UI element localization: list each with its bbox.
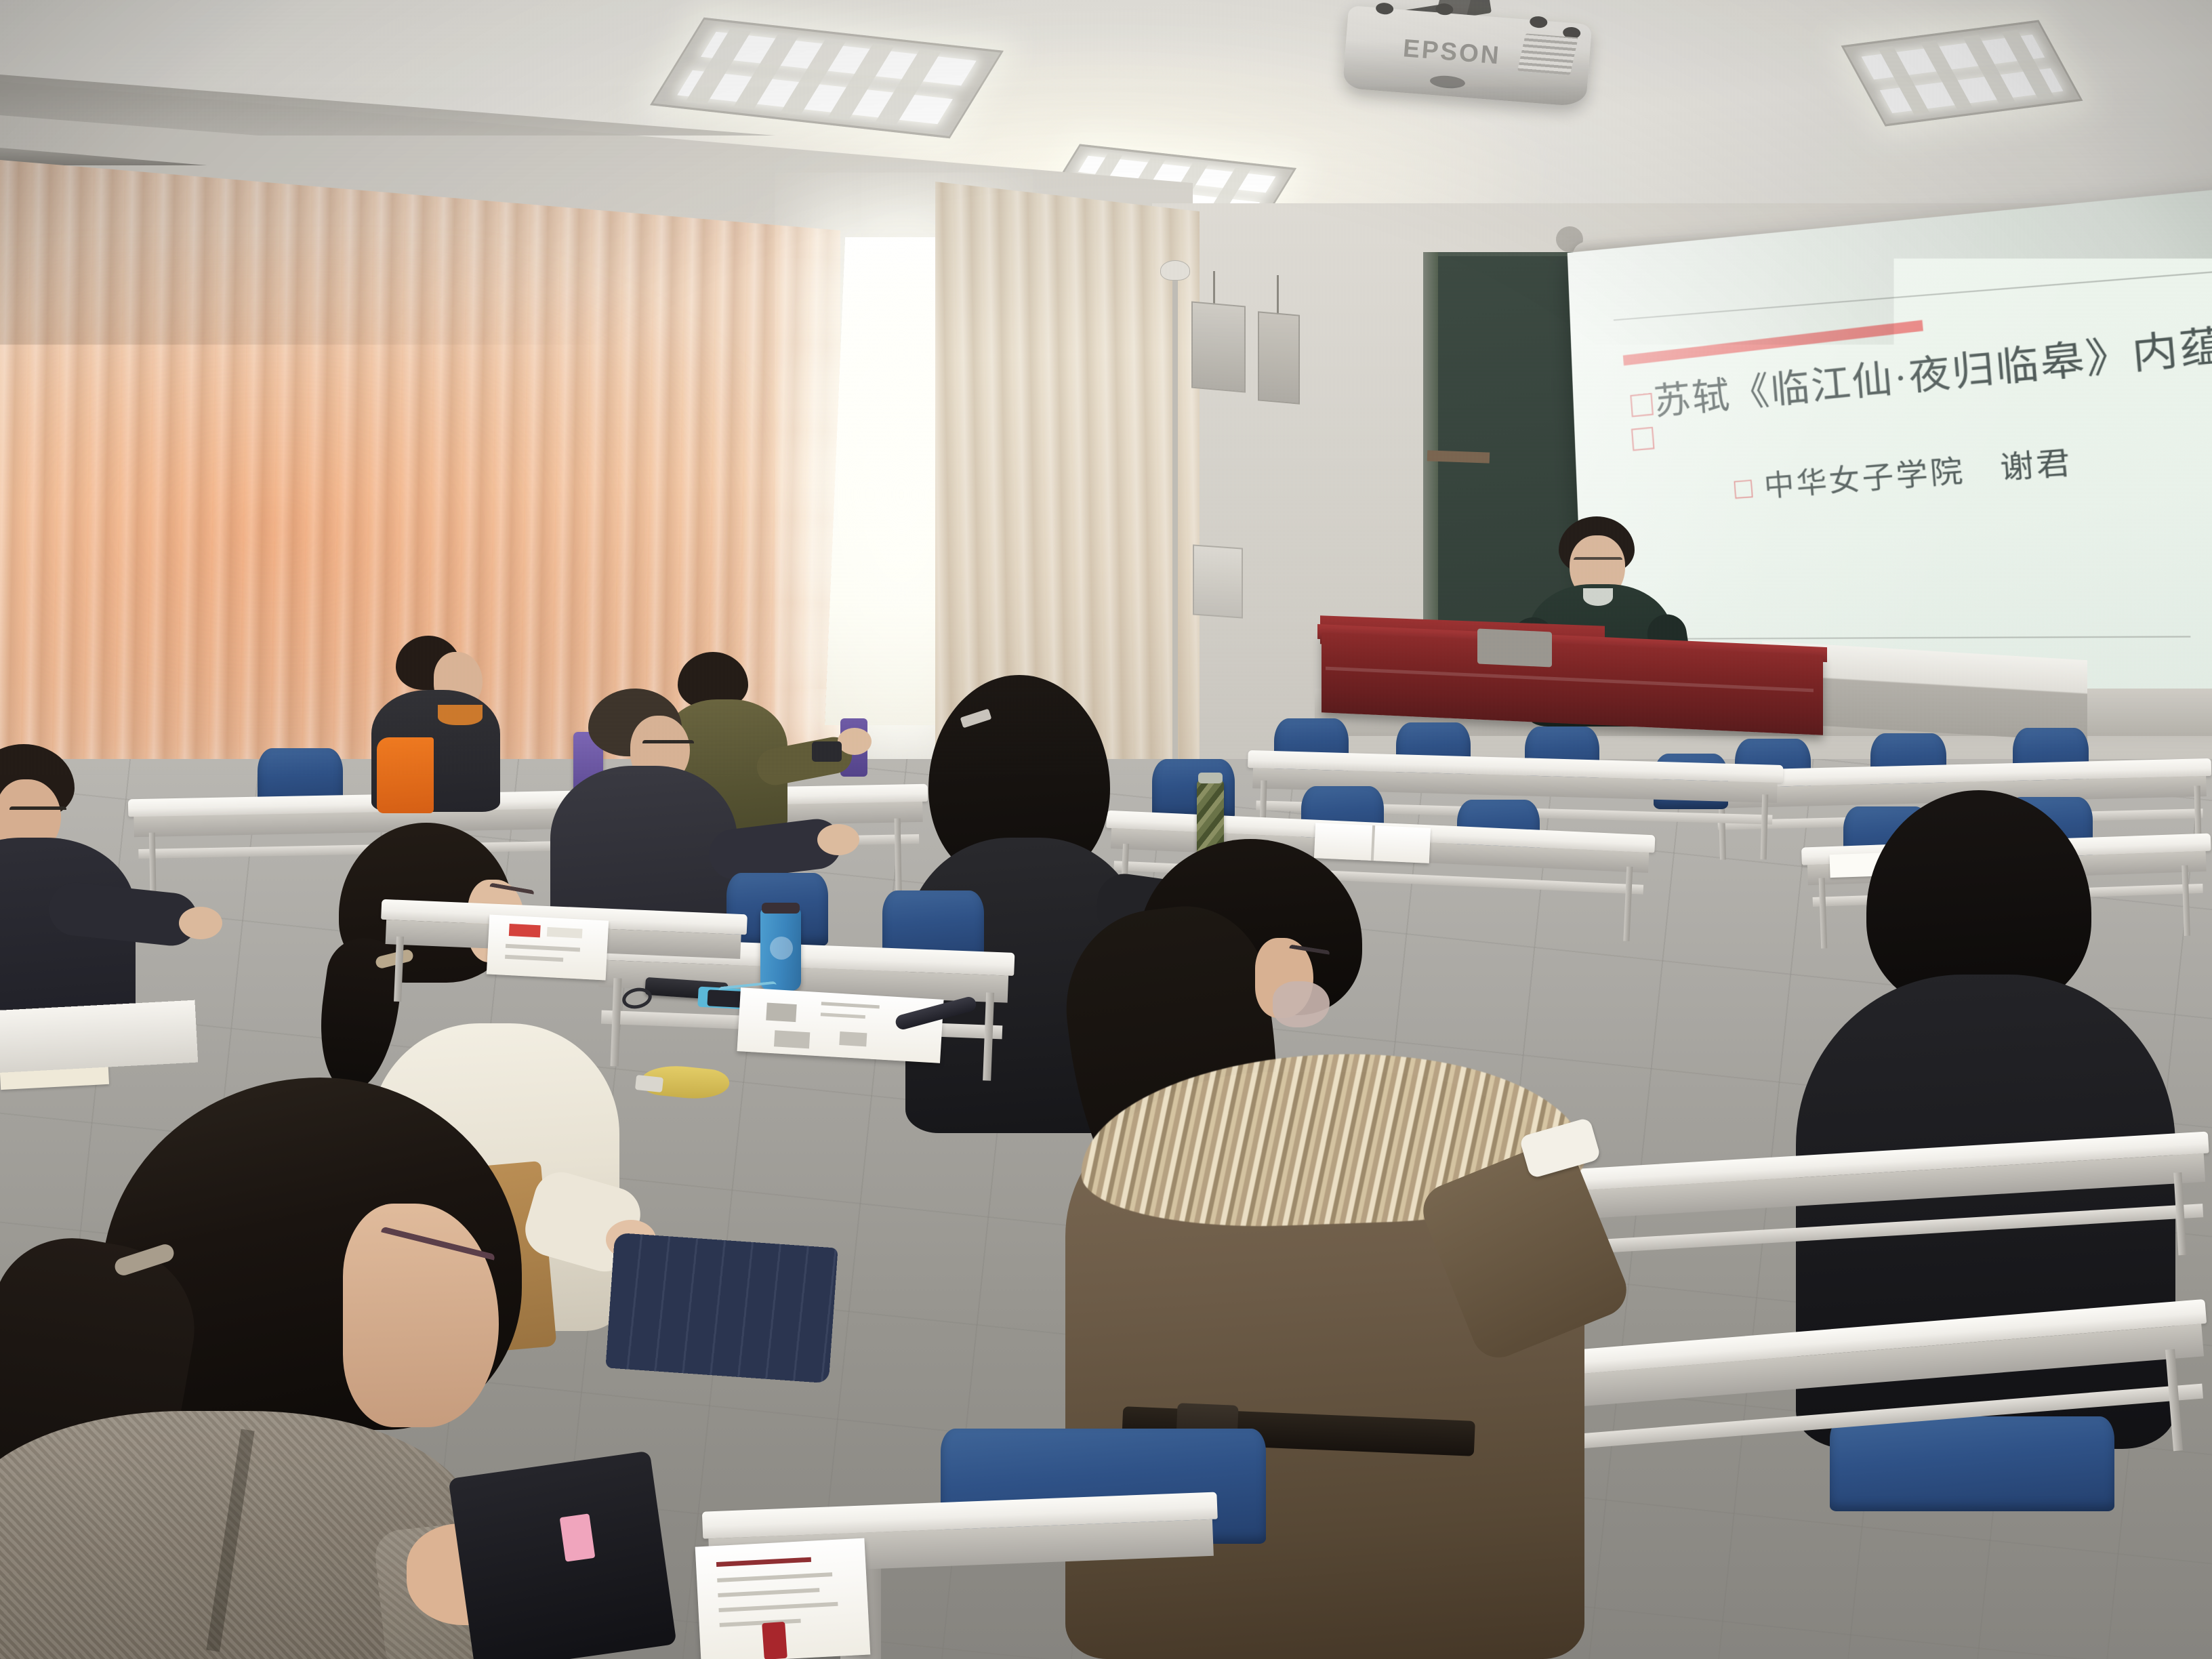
travel-mug-lid [762, 903, 800, 914]
travel-mug-logo [770, 937, 793, 960]
orange-collar [438, 705, 483, 725]
orange-vest-panel [377, 737, 434, 813]
hand [817, 824, 859, 855]
presenter-glasses-icon [1574, 557, 1622, 565]
podium-equipment-box [1477, 629, 1552, 668]
wall-dome-fixture [1160, 260, 1190, 281]
thermos-cap [1198, 773, 1223, 783]
black-bag[interactable] [448, 1451, 676, 1659]
classroom-photo: EPSON □苏轼《临江仙·夜归临皋》内蕴解读 □ □ 中华女子学院 谢君 [0, 0, 2212, 1659]
smartphone-held[interactable] [812, 741, 842, 762]
presenter-collar [1583, 588, 1613, 606]
eyeglasses-icon [642, 740, 694, 747]
eyeglasses-icon [9, 806, 66, 813]
curtain-warm-tint [0, 244, 779, 759]
red-marker[interactable] [762, 1622, 787, 1659]
wall-access-panel[interactable] [1193, 544, 1243, 618]
tissue [635, 1075, 663, 1092]
wall-conduit-pipe [1172, 271, 1178, 813]
speaker-wire-right [1277, 275, 1279, 317]
paper-handout-red[interactable] [487, 914, 609, 980]
desk-left-partial [0, 1000, 198, 1074]
chalk-ledge [1427, 450, 1490, 463]
hand [838, 728, 872, 755]
plaid-trousers [605, 1233, 838, 1384]
wall-speaker-right [1258, 311, 1300, 404]
wall-speaker-left [1191, 302, 1246, 393]
pink-tag [560, 1513, 596, 1561]
hand [179, 907, 222, 939]
